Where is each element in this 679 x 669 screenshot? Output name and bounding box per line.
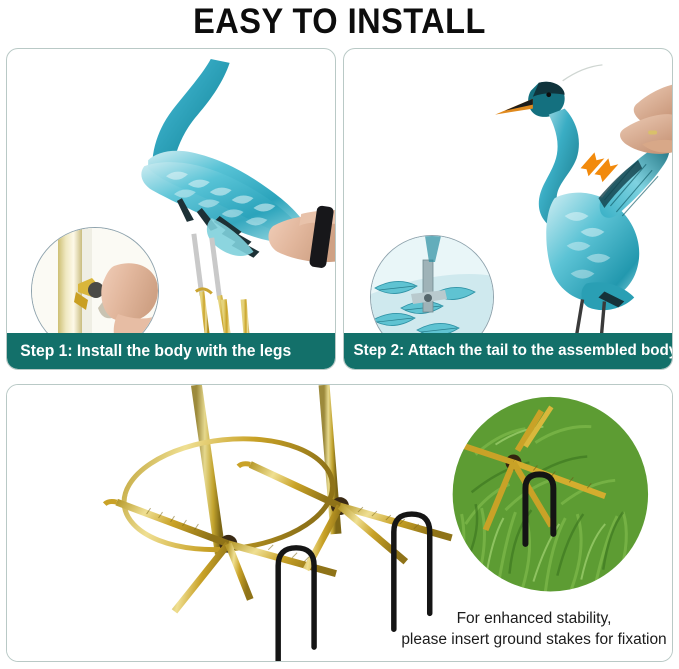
- grass-inset-circle: [452, 396, 649, 593]
- attach-direction-arrow: [581, 152, 619, 182]
- step-2-banner: Step 2: Attach the tail to the assembled…: [344, 333, 672, 369]
- panel-step-2: Step 2: Attach the tail to the assembled…: [343, 48, 673, 370]
- crane-wing-raised: [600, 143, 670, 218]
- step-2-banner-label: Step 2: Attach the tail to the assembled…: [344, 342, 673, 360]
- crane-beak: [495, 99, 533, 115]
- step-2-photo: [344, 49, 672, 369]
- hands-attaching-tail: [620, 85, 672, 154]
- infographic-page: EASY TO INSTALL: [0, 0, 679, 669]
- crane-head: [495, 65, 602, 117]
- caption-line-1: For enhanced stability,: [396, 608, 672, 629]
- crane-crest-wire: [563, 65, 603, 81]
- step-1-banner-label: Step 1: Install the body with the legs: [7, 342, 291, 361]
- caption-line-2: please insert ground stakes for fixation: [396, 629, 672, 650]
- step-1-photo: [7, 49, 335, 369]
- ring: [648, 130, 657, 134]
- step-1-banner: Step 1: Install the body with the legs: [7, 333, 335, 369]
- panel-step-1: Step 1: Install the body with the legs: [6, 48, 336, 370]
- crane-eye: [546, 92, 551, 97]
- page-title: EASY TO INSTALL: [24, 2, 655, 42]
- stability-caption: For enhanced stability, please insert gr…: [396, 608, 672, 650]
